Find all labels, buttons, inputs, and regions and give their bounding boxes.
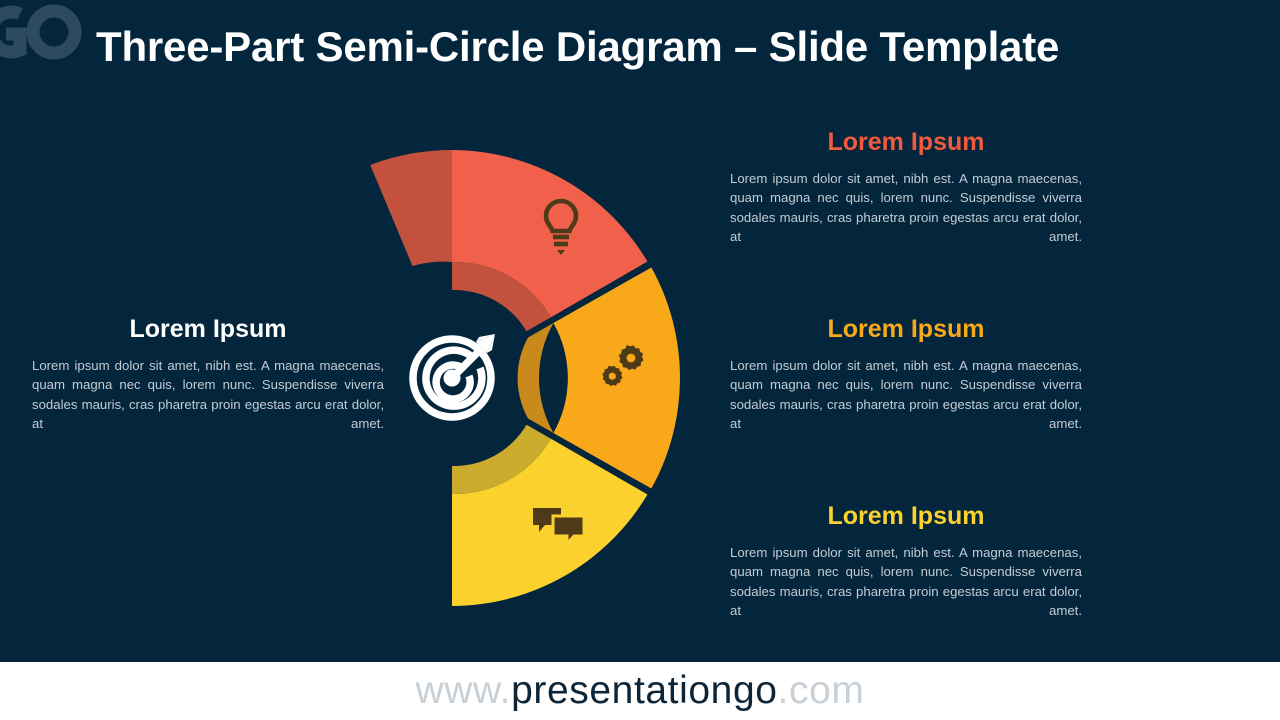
- page-title: Three-Part Semi-Circle Diagram – Slide T…: [96, 18, 1236, 80]
- text-block-top-right-heading: Lorem Ipsum: [730, 127, 1082, 157]
- semi-circle-diagram: [330, 95, 750, 665]
- segment-middle-inner-shade: [518, 323, 554, 433]
- footer-brand: presentationgo: [511, 669, 777, 712]
- text-block-left-body: Lorem ipsum dolor sit amet, nibh est. A …: [32, 356, 384, 433]
- text-block-middle-right-heading: Lorem Ipsum: [730, 314, 1082, 344]
- text-block-top-right: Lorem Ipsum Lorem ipsum dolor sit amet, …: [730, 127, 1082, 246]
- slide-canvas: Three-Part Semi-Circle Diagram – Slide T…: [0, 0, 1280, 720]
- text-block-bottom-right: Lorem Ipsum Lorem ipsum dolor sit amet, …: [730, 501, 1082, 620]
- text-block-top-right-body: Lorem ipsum dolor sit amet, nibh est. A …: [730, 169, 1082, 246]
- footer-prefix: www.: [416, 669, 512, 712]
- text-block-middle-right: Lorem Ipsum Lorem ipsum dolor sit amet, …: [730, 314, 1082, 433]
- text-block-bottom-right-body: Lorem ipsum dolor sit amet, nibh est. A …: [730, 543, 1082, 620]
- text-block-middle-right-body: Lorem ipsum dolor sit amet, nibh est. A …: [730, 356, 1082, 433]
- text-block-bottom-right-heading: Lorem Ipsum: [730, 501, 1082, 531]
- text-block-left: Lorem Ipsum Lorem ipsum dolor sit amet, …: [32, 314, 384, 433]
- presentationgo-logo-watermark: [0, 0, 88, 72]
- footer-bar: www.presentationgo.com: [0, 662, 1280, 720]
- text-block-left-heading: Lorem Ipsum: [32, 314, 384, 344]
- footer-suffix: .com: [778, 669, 865, 712]
- footer-website: www.presentationgo.com: [416, 669, 865, 713]
- segment-top-shadow: [370, 150, 452, 266]
- target-arrow-icon: [413, 334, 495, 417]
